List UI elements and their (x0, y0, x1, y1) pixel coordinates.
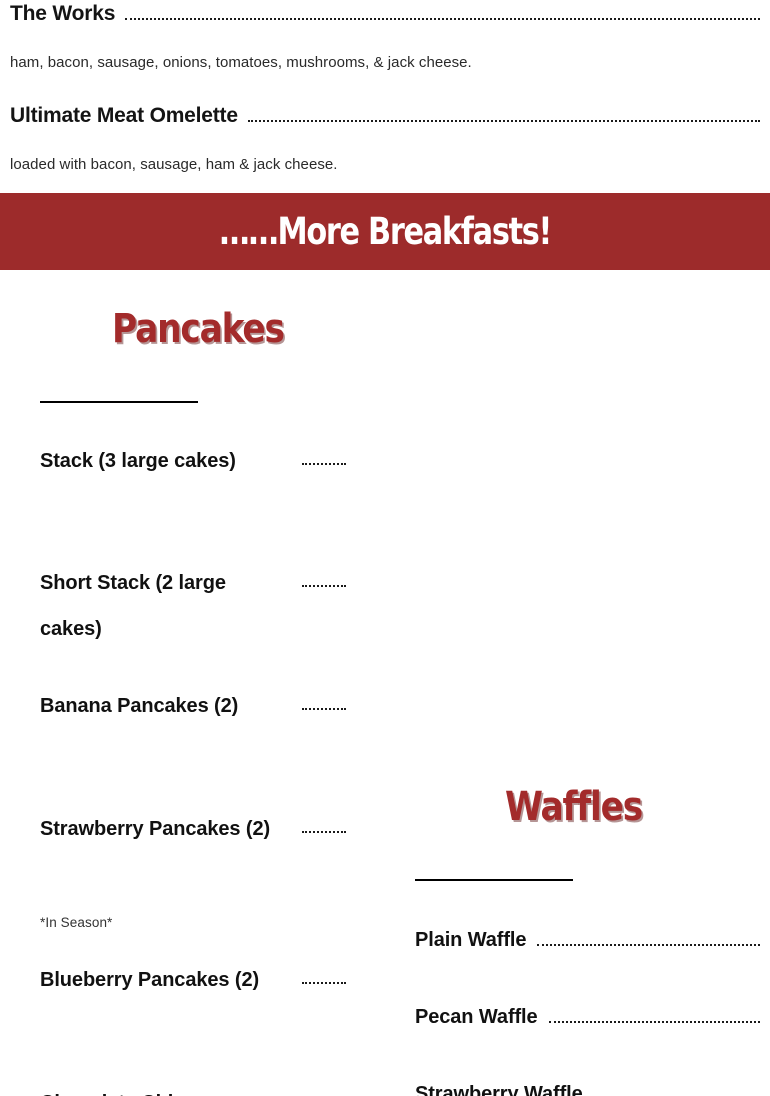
menu-item-stack: Stack (3 large cakes) (40, 438, 360, 484)
menu-item-row: The Works (10, 2, 760, 26)
menu-item-name: Stack (3 large cakes) (40, 438, 285, 484)
menu-item-chocolate-chip: Chocolate Chip (40, 1080, 360, 1096)
menu-item-plain-waffle: Plain Waffle (415, 923, 760, 957)
menu-item-short-stack: Short Stack (2 large cakes) (40, 560, 360, 652)
dotted-leader (302, 585, 346, 587)
more-breakfasts-banner: ……More Breakfasts! (0, 193, 770, 270)
menu-item-blueberry-pancakes: Blueberry Pancakes (2) (40, 957, 360, 1003)
menu-item-row: Ultimate Meat Omelette (10, 104, 760, 128)
dotted-leader (302, 708, 346, 710)
menu-item-name: Strawberry Waffle (415, 1077, 583, 1096)
banner-title: ……More Breakfasts! (219, 210, 551, 253)
menu-item-name: The Works (10, 2, 115, 26)
dotted-leader (302, 831, 346, 833)
menu-item-name: Short Stack (2 large cakes) (40, 560, 285, 652)
section-divider (415, 879, 573, 881)
dotted-leader (549, 1021, 760, 1023)
section-divider (40, 401, 198, 403)
menu-item-name: Ultimate Meat Omelette (10, 104, 238, 128)
menu-item-name: Banana Pancakes (2) (40, 683, 285, 729)
menu-item-name: Strawberry Pancakes (2) (40, 806, 285, 852)
menu-item-name: Chocolate Chip (40, 1080, 285, 1096)
dotted-leader (537, 944, 760, 946)
menu-item-banana-pancakes: Banana Pancakes (2) (40, 683, 360, 729)
dotted-leader (248, 120, 760, 122)
menu-item-description: ham, bacon, sausage, onions, tomatoes, m… (10, 54, 760, 71)
dotted-leader (125, 18, 760, 20)
menu-item-name: Plain Waffle (415, 923, 526, 957)
section-heading-waffles: Waffles (505, 784, 642, 830)
menu-item-name: Blueberry Pancakes (2) (40, 957, 285, 1003)
menu-item-description: loaded with bacon, sausage, ham & jack c… (10, 156, 760, 173)
menu-item-strawberry-waffle: Strawberry Waffle (415, 1077, 760, 1096)
dotted-leader (302, 982, 346, 984)
omelette-section: The Works ham, bacon, sausage, onions, t… (0, 2, 770, 173)
menu-item-strawberry-pancakes: Strawberry Pancakes (2) (40, 806, 360, 852)
menu-item-pecan-waffle: Pecan Waffle (415, 1000, 760, 1034)
section-heading-pancakes: Pancakes (112, 306, 284, 352)
menu-item-note: *In Season* (40, 915, 112, 930)
menu-item-name: Pecan Waffle (415, 1000, 538, 1034)
dotted-leader (302, 463, 346, 465)
menu-columns: Pancakes Stack (3 large cakes) Short Sta… (0, 270, 770, 1096)
